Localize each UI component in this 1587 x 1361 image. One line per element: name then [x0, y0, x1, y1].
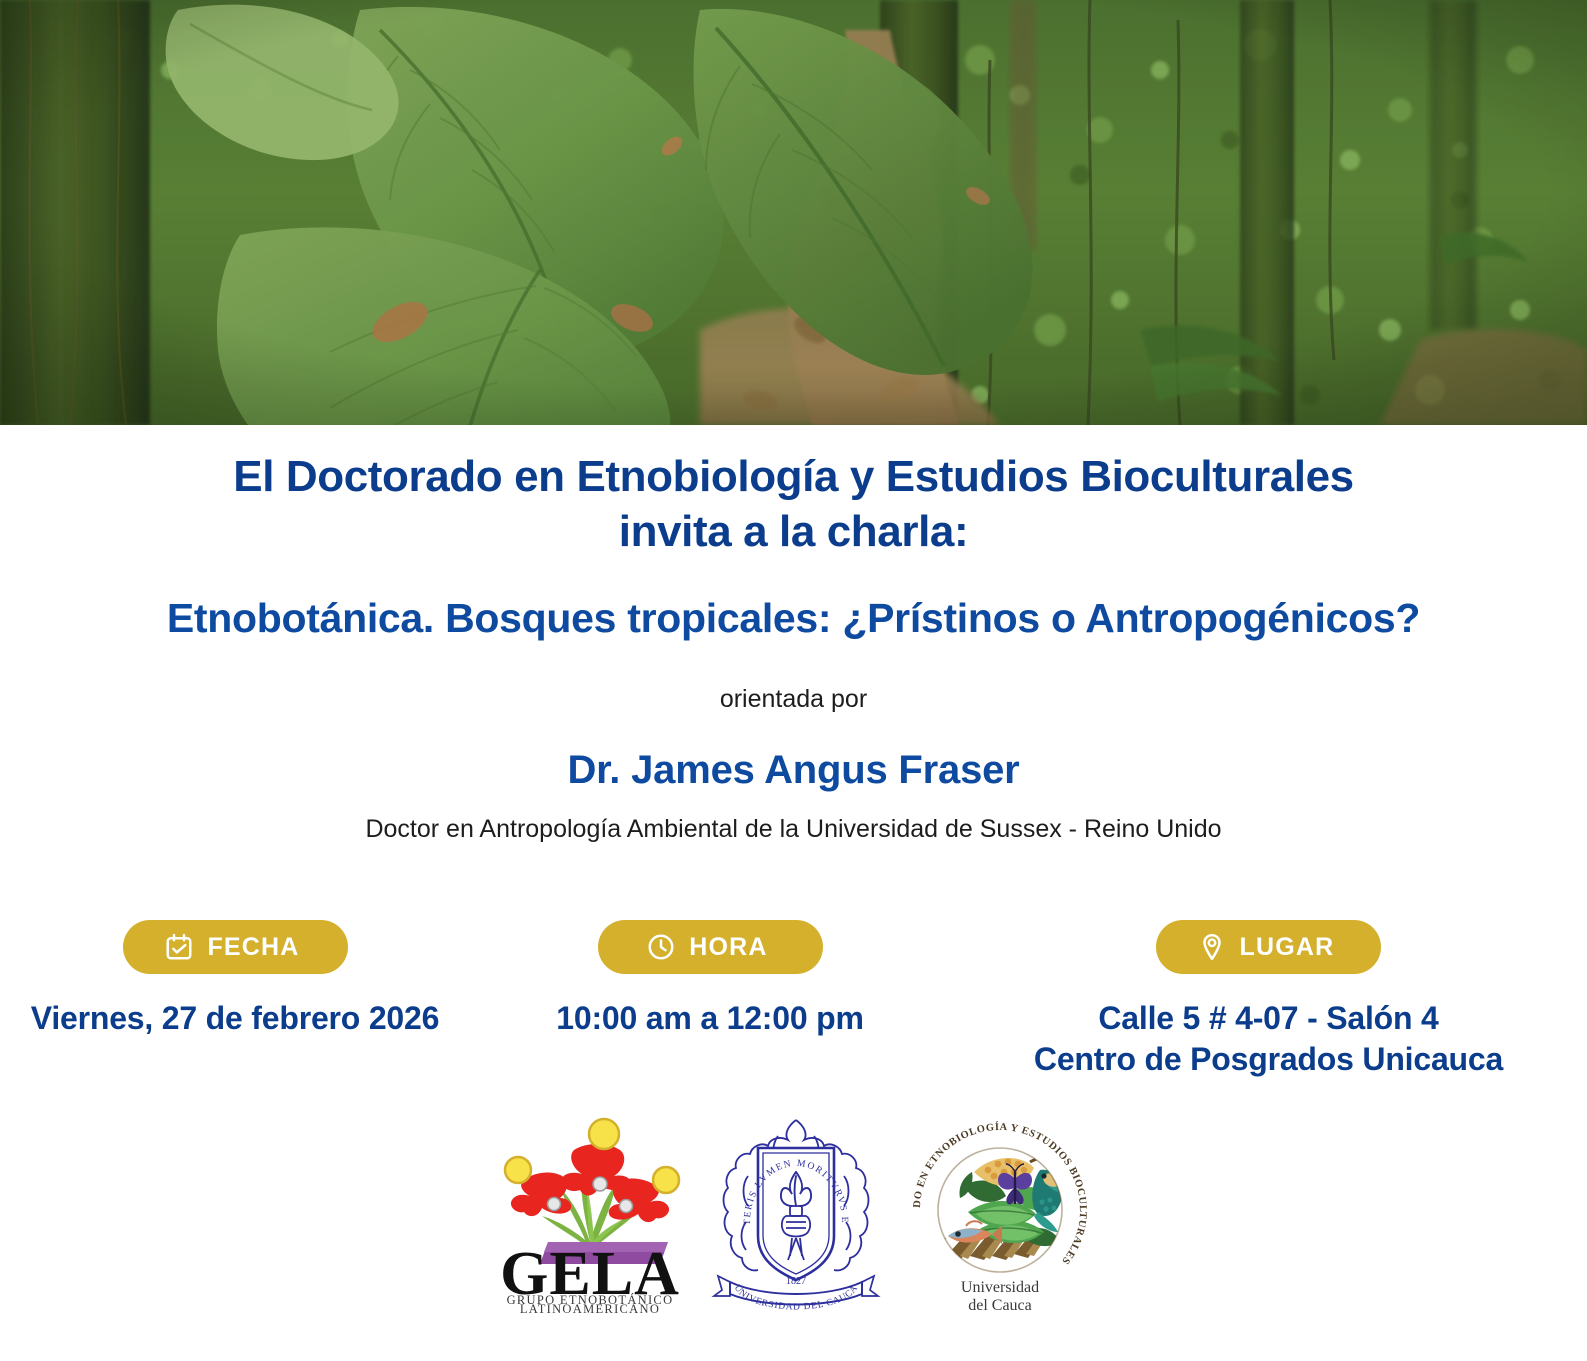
badge-fecha-label: FECHA [207, 933, 299, 962]
detail-lugar: LUGAR Calle 5 # 4-07 - Salón 4 Centro de… [950, 920, 1587, 1080]
gela-logo: GELA GRUPO ETNOBOTÁNICO LATINOAMERICANO [490, 1114, 690, 1314]
fecha-value: Viernes, 27 de febrero 2026 [12, 998, 458, 1039]
calendar-check-icon [164, 932, 194, 962]
hora-value: 10:00 am a 12:00 pm [482, 998, 938, 1039]
speaker-affiliation: Doctor en Antropología Ambiental de la U… [0, 815, 1587, 844]
speaker-lead-in: orientada por [0, 685, 1587, 714]
logo-strip: GELA GRUPO ETNOBOTÁNICO LATINOAMERICANO [0, 1114, 1587, 1314]
talk-title: Etnobotánica. Bosques tropicales: ¿Príst… [0, 594, 1587, 643]
detail-fecha: FECHA Viernes, 27 de febrero 2026 [0, 920, 470, 1039]
seal-year: 1827 [786, 1276, 806, 1287]
event-details-row: FECHA Viernes, 27 de febrero 2026 HORA [0, 920, 1587, 1080]
lugar-line-2: Centro de Posgrados Unicauca [962, 1039, 1575, 1080]
headline-line-1: El Doctorado en Etnobiología y Estudios … [70, 449, 1517, 504]
badge-hora-label: HORA [689, 933, 767, 962]
lugar-value: Calle 5 # 4-07 - Salón 4 Centro de Posgr… [962, 998, 1575, 1080]
map-pin-icon [1197, 932, 1227, 962]
badge-lugar-label: LUGAR [1240, 933, 1335, 962]
page-title: El Doctorado en Etnobiología y Estudios … [0, 449, 1587, 560]
event-poster: El Doctorado en Etnobiología y Estudios … [0, 0, 1587, 1361]
hora-line-1: 10:00 am a 12:00 pm [482, 998, 938, 1039]
svg-text:LATINOAMERICANO: LATINOAMERICANO [519, 1302, 659, 1314]
fecha-line-1: Viernes, 27 de febrero 2026 [12, 998, 458, 1039]
detail-hora: HORA 10:00 am a 12:00 pm [470, 920, 950, 1039]
poster-content: El Doctorado en Etnobiología y Estudios … [0, 425, 1587, 1314]
doctorado-footer-line-1: Universidad [960, 1279, 1038, 1296]
forest-hero-image [0, 0, 1587, 425]
lugar-line-1: Calle 5 # 4-07 - Salón 4 [962, 998, 1575, 1039]
doctorado-footer-line-2: del Cauca [968, 1297, 1032, 1314]
headline-line-2: invita a la charla: [70, 504, 1517, 559]
doctorado-etnobiologia-logo: DOCTORADO EN ETNOBIOLOGÍA Y ESTUDIOS BIO… [902, 1114, 1098, 1314]
badge-lugar: LUGAR [1156, 920, 1381, 974]
speaker-name: Dr. James Angus Fraser [0, 748, 1587, 793]
clock-icon [646, 932, 676, 962]
badge-hora: HORA [598, 920, 823, 974]
badge-fecha: FECHA [123, 920, 348, 974]
universidad-del-cauca-seal: POSTERIS LVMEN MORITVRVS EDAT [708, 1114, 884, 1314]
